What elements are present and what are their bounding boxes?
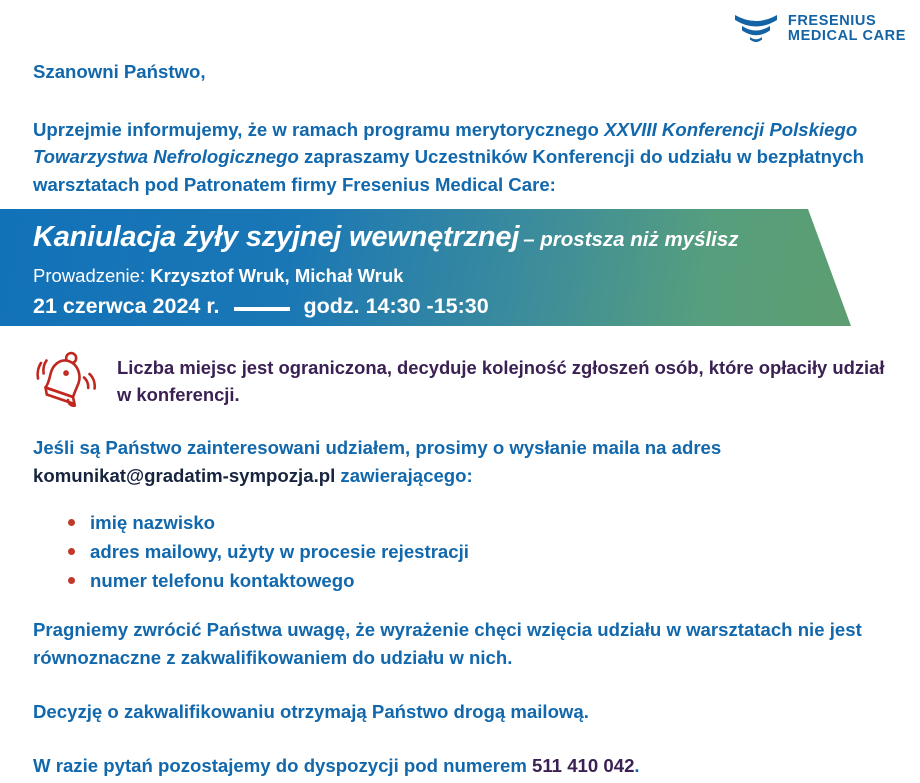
email-text-before: Jeśli są Państwo zainteresowani udziałem…: [33, 437, 721, 458]
contact-email[interactable]: komunikat@gradatim-sympozja.pl: [33, 465, 335, 486]
limited-seats-notice: Liczba miejsc jest ograniczona, decyduje…: [33, 348, 893, 408]
banner-date: 21 czerwca 2024 r.: [33, 294, 220, 319]
email-text-after: zawierającego:: [335, 465, 472, 486]
divider-dash: [234, 307, 290, 311]
fresenius-chevron-logo-icon: [733, 12, 779, 46]
brand-name-line1: FRESENIUS: [788, 14, 906, 29]
brand-wordmark: FRESENIUS MEDICAL CARE: [788, 14, 906, 45]
email-instructions: Jeśli są Państwo zainteresowani udziałem…: [33, 434, 893, 490]
intro-text-part1: Uprzejmie informujemy, że w ramach progr…: [33, 119, 604, 140]
list-item: imię nazwisko: [60, 508, 469, 537]
banner-title-main: Kaniulacja żyły szyjnej wewnętrznej: [33, 221, 519, 253]
banner-time: godz. 14:30 -15:30: [304, 294, 489, 319]
banner-datetime: 21 czerwca 2024 r. godz. 14:30 -15:30: [33, 294, 489, 319]
brand-logo: FRESENIUS MEDICAL CARE: [733, 12, 906, 46]
banner-title-sub: – prostsza niż myślisz: [523, 228, 738, 251]
intro-section: Szanowni Państwo, Uprzejmie informujemy,…: [33, 58, 893, 198]
closing-paragraph-1: Pragniemy zwrócić Państwa uwagę, że wyra…: [33, 616, 903, 672]
presenters-label: Prowadzenie:: [33, 265, 150, 286]
contact-phone[interactable]: 511 410 042: [532, 755, 634, 776]
salutation: Szanowni Państwo,: [33, 58, 893, 86]
intro-paragraph: Uprzejmie informujemy, że w ramach progr…: [33, 116, 893, 199]
workshop-banner: Kaniulacja żyły szyjnej wewnętrznej– pro…: [0, 209, 852, 326]
phone-text-after: .: [634, 755, 639, 776]
banner-presenters: Prowadzenie: Krzysztof Wruk, Michał Wruk: [33, 265, 403, 287]
banner-title: Kaniulacja żyły szyjnej wewnętrznej– pro…: [33, 221, 739, 254]
closing-section: Pragniemy zwrócić Państwa uwagę, że wyra…: [33, 616, 903, 780]
spacer: [33, 726, 903, 752]
notice-text: Liczba miejsc jest ograniczona, decyduje…: [117, 348, 893, 408]
list-item: numer telefonu kontaktowego: [60, 566, 469, 595]
presenters-names: Krzysztof Wruk, Michał Wruk: [150, 265, 403, 286]
list-item: adres mailowy, użyty w procesie rejestra…: [60, 537, 469, 566]
ringing-bell-icon: [33, 350, 97, 408]
closing-paragraph-3: W razie pytań pozostajemy do dyspozycji …: [33, 752, 903, 780]
phone-text-before: W razie pytań pozostajemy do dyspozycji …: [33, 755, 532, 776]
required-info-list: imię nazwisko adres mailowy, użyty w pro…: [60, 508, 469, 596]
closing-paragraph-2: Decyzję o zakwalifikowaniu otrzymają Pań…: [33, 698, 903, 726]
spacer: [33, 672, 903, 698]
brand-name-line2: MEDICAL CARE: [788, 29, 906, 44]
